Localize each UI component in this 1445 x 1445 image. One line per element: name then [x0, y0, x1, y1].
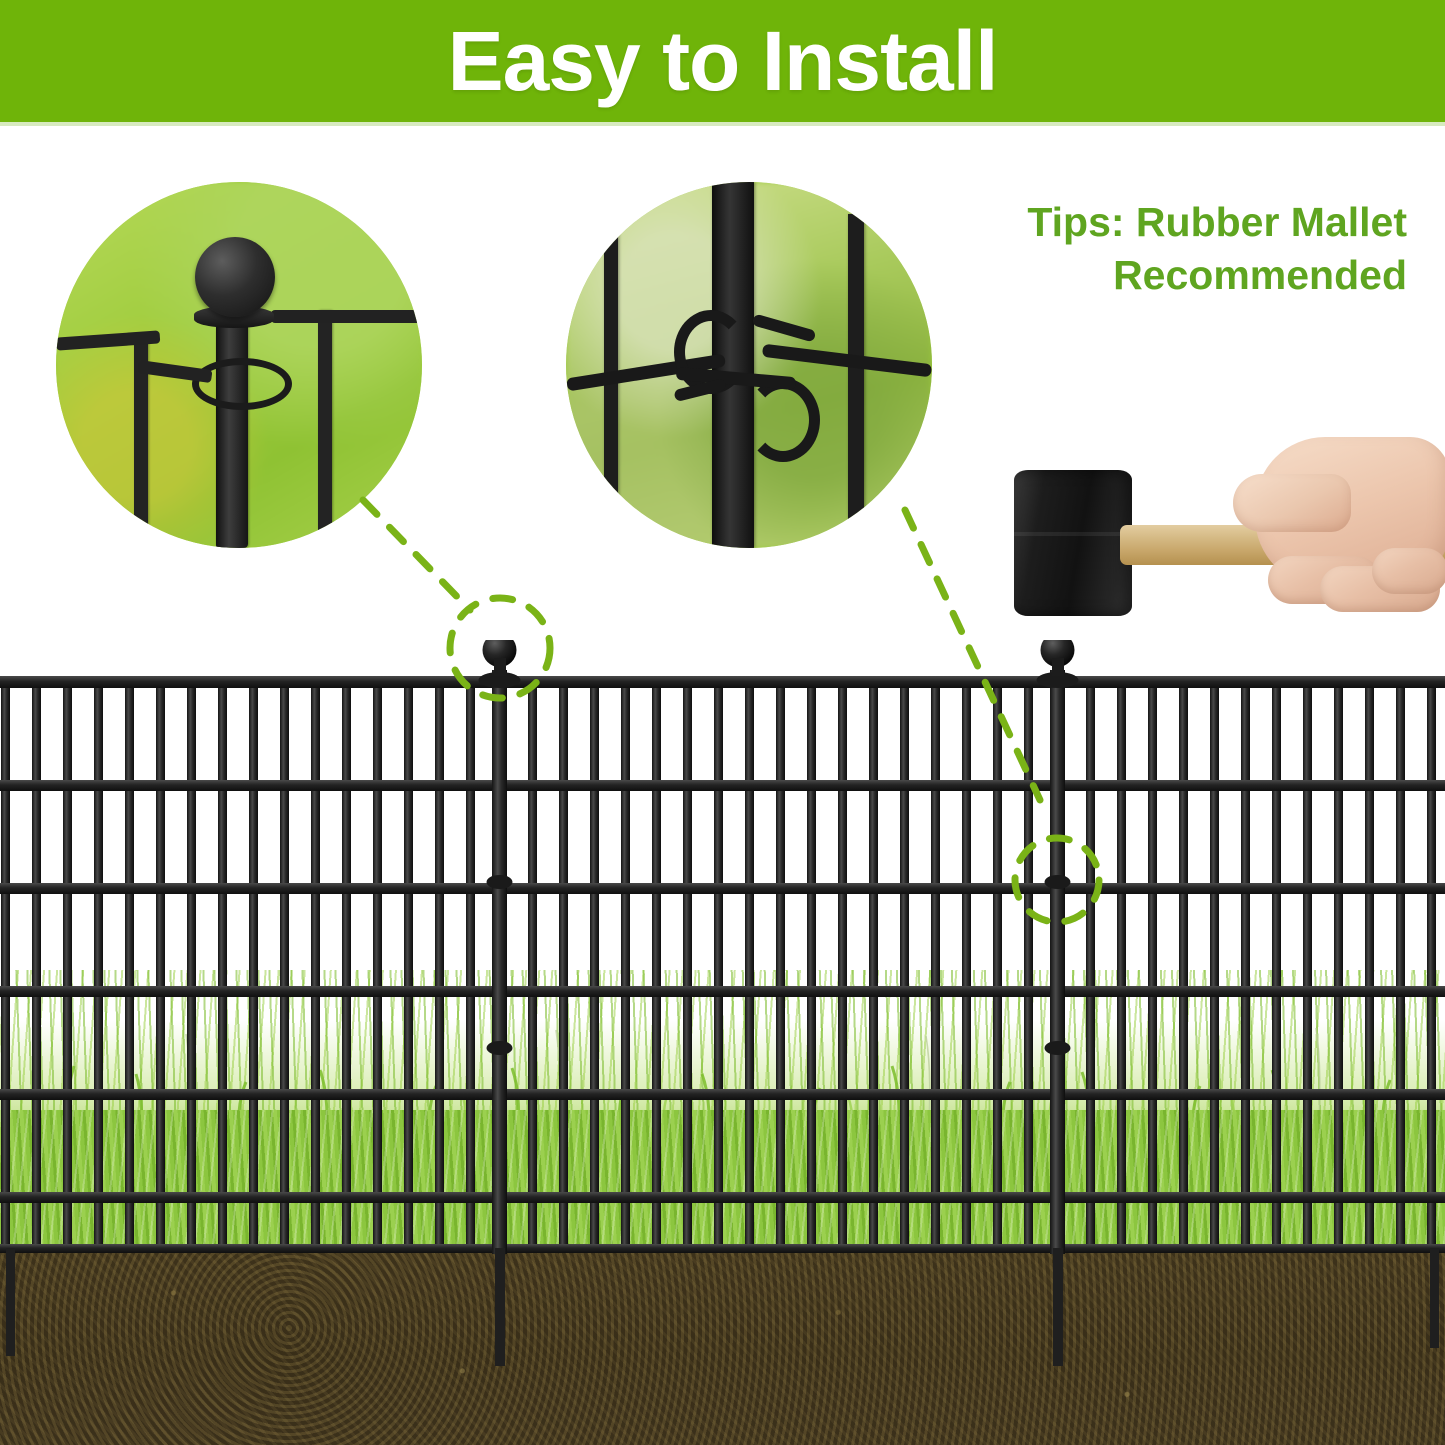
callout-circle-connector-hook — [566, 182, 932, 548]
closeup-connector-ring — [192, 358, 292, 410]
callout-circle-post-finial — [56, 182, 422, 548]
fence-post-group — [1037, 640, 1079, 1366]
fence-structure — [0, 640, 1445, 1445]
fence-ground-stake — [6, 1248, 15, 1356]
closeup-fence-bar — [848, 214, 864, 524]
fence-ground-stake — [1430, 1248, 1439, 1348]
hand-thumb — [1233, 474, 1351, 532]
page-title: Easy to Install — [0, 0, 1445, 122]
closeup-hook-lower-loop — [746, 378, 820, 462]
header-banner-underline — [0, 122, 1445, 126]
hand-finger — [1372, 548, 1445, 594]
infographic-root: Easy to Install Tips: Rubber Mallet Reco… — [0, 0, 1445, 1445]
closeup-fence-bar — [318, 310, 332, 548]
closeup-fence-rail — [271, 310, 422, 323]
fence-scene — [0, 640, 1445, 1445]
closeup-ball-finial — [195, 237, 275, 317]
rubber-mallet-head — [1014, 470, 1132, 616]
fence-post-group — [479, 640, 521, 1366]
